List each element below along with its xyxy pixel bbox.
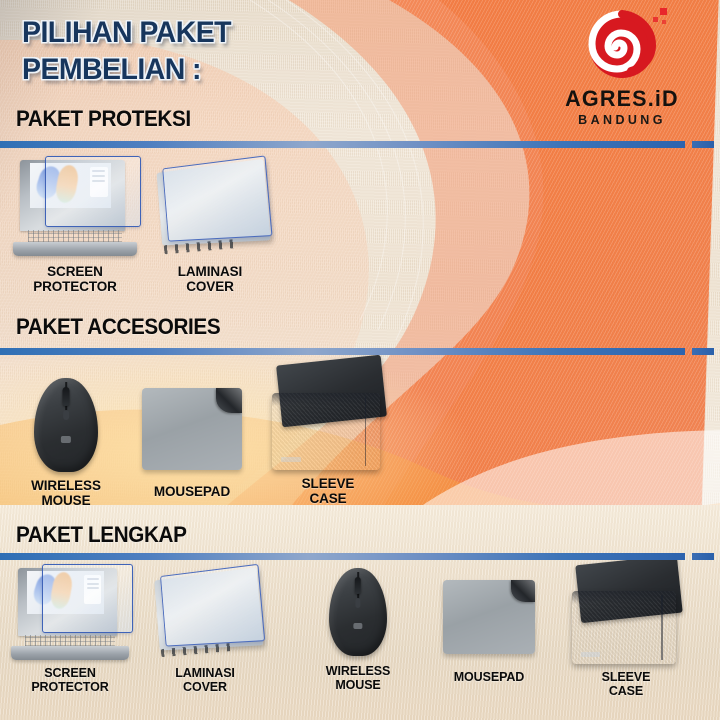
- label-line-1: SLEEVE: [602, 670, 651, 684]
- divider-dash: [692, 348, 714, 355]
- section-heading-accesories: PAKET ACCESORIES: [16, 314, 220, 340]
- sleeve-brand-tag: [581, 652, 600, 657]
- sleeve-case-art: [272, 360, 384, 470]
- label-line-2: CASE: [309, 491, 346, 506]
- mouse-dpi-button: [63, 410, 69, 420]
- section-divider-proteksi: [0, 141, 720, 148]
- product-label: LAMINASI COVER: [145, 666, 265, 694]
- label-line-1: LAMINASI: [178, 264, 242, 279]
- promo-poster: PILIHAN PAKET PEMBELIAN : AGRES.iD BANDU…: [0, 0, 720, 720]
- title-line-2: PEMBELIAN :: [22, 51, 336, 88]
- divider-bar: [0, 553, 685, 560]
- section-divider-lengkap: [0, 553, 720, 560]
- laminate-film: [160, 564, 265, 646]
- product-label: LAMINASI COVER: [146, 264, 274, 294]
- label-line-2: PROTECTOR: [33, 279, 117, 294]
- logo-pixel-accent-icon: [647, 8, 667, 28]
- laminasi-cover-art: [147, 568, 263, 660]
- wireless-mouse-art: [329, 568, 387, 656]
- logo-city: BANDUNG: [542, 113, 702, 127]
- label-line-2: COVER: [183, 680, 227, 694]
- product-label: SCREEN PROTECTOR: [8, 666, 132, 694]
- product-wireless-mouse: WIRELESS MOUSE: [12, 378, 120, 508]
- brand-logo: AGRES.iD BANDUNG: [542, 6, 702, 127]
- mouse-dpi-button: [355, 598, 360, 608]
- product-mousepad: MOUSEPAD: [133, 378, 251, 499]
- screen-protector-film: [45, 156, 141, 227]
- mousepad-art: [142, 388, 242, 470]
- divider-dash: [692, 553, 714, 560]
- laptop-screen-protector-art: [11, 568, 129, 660]
- product-laminasi-cover: LAMINASI COVER: [146, 160, 274, 294]
- mousepad-art: [443, 580, 535, 654]
- mouse-scroll-wheel: [355, 577, 361, 595]
- label-line-1: SLEEVE: [302, 476, 355, 491]
- laptop-keyboard: [28, 230, 122, 242]
- product-label: SLEEVE CASE: [566, 670, 686, 698]
- divider-bar: [0, 348, 685, 355]
- laptop-base: [11, 646, 129, 660]
- label-line-2: COVER: [186, 279, 234, 294]
- divider-bar: [0, 141, 685, 148]
- product-mousepad-full: MOUSEPAD: [430, 568, 548, 684]
- laminate-film: [162, 155, 272, 241]
- mouse-brand-mark: [353, 623, 362, 629]
- divider-dash: [692, 141, 714, 148]
- laptop-screen-protector-art: [13, 160, 137, 256]
- sleeve-seam: [661, 595, 663, 659]
- label-line-2: PROTECTOR: [31, 680, 108, 694]
- label-line-1: SCREEN: [44, 666, 96, 680]
- product-screen-protector: SCREEN PROTECTOR: [10, 160, 140, 294]
- laminasi-cover-art: [149, 160, 271, 256]
- product-laminasi-cover-full: LAMINASI COVER: [145, 568, 265, 694]
- sleeve-seam: [365, 397, 367, 465]
- product-screen-protector-full: SCREEN PROTECTOR: [8, 568, 132, 694]
- label-line-1: SCREEN: [47, 264, 103, 279]
- swirl-phoenix-logo-icon: [583, 6, 661, 84]
- product-label: SCREEN PROTECTOR: [10, 264, 140, 294]
- section-heading-proteksi: PAKET PROTEKSI: [16, 106, 191, 132]
- label-line-1: MOUSEPAD: [154, 484, 230, 499]
- mousepad-corner-highlight: [216, 388, 242, 413]
- sleeve-opening-rim: [572, 591, 676, 603]
- section-divider-accesories: [0, 348, 720, 355]
- section-heading-lengkap: PAKET LENGKAP: [16, 522, 187, 548]
- screen-protector-film: [42, 564, 134, 632]
- sleeve-opening-rim: [272, 393, 380, 406]
- laptop-keyboard: [25, 635, 115, 646]
- sleeve-brand-tag: [281, 457, 301, 463]
- mouse-brand-mark: [61, 436, 71, 443]
- label-line-1: LAMINASI: [175, 666, 235, 680]
- label-line-1: WIRELESS: [31, 478, 101, 493]
- product-label: WIRELESS MOUSE: [12, 478, 120, 508]
- product-wireless-mouse-full: WIRELESS MOUSE: [300, 568, 416, 692]
- product-label: WIRELESS MOUSE: [300, 664, 416, 692]
- logo-wordmark: AGRES.iD: [544, 86, 701, 112]
- title-line-1: PILIHAN PAKET: [22, 14, 336, 51]
- wireless-mouse-art: [34, 378, 98, 472]
- label-line-2: CASE: [609, 684, 643, 698]
- product-label: MOUSEPAD: [430, 670, 548, 684]
- label-line-2: MOUSE: [41, 493, 90, 508]
- product-sleeve-case-full: SLEEVE CASE: [566, 560, 686, 698]
- label-line-1: WIRELESS: [326, 664, 390, 678]
- product-label: MOUSEPAD: [133, 484, 251, 499]
- poster-title: PILIHAN PAKET PEMBELIAN :: [22, 14, 352, 88]
- mouse-scroll-wheel: [62, 387, 69, 406]
- sleeve-case-art: [572, 560, 680, 664]
- laptop-base: [13, 242, 137, 256]
- label-line-1: MOUSEPAD: [454, 670, 525, 684]
- product-label: SLEEVE CASE: [268, 476, 388, 506]
- product-sleeve-case: SLEEVE CASE: [268, 360, 388, 506]
- label-line-2: MOUSE: [335, 678, 380, 692]
